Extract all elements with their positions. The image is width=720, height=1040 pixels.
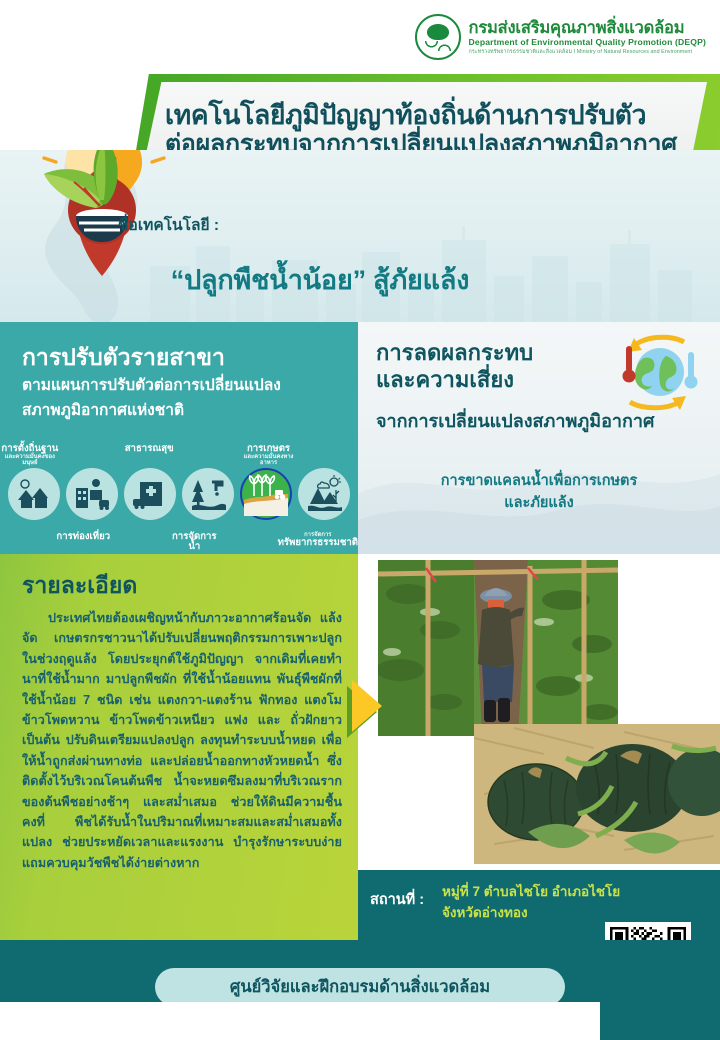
photo-zone bbox=[358, 554, 720, 870]
org-name-thai: กรมส่งเสริมคุณภาพสิ่งแวดล้อม bbox=[469, 19, 706, 37]
mitigation-heading-line2: และความเสี่ยง bbox=[376, 367, 533, 394]
sector-panel-subheading-2: สภาพภูมิอากาศแห่งชาติ bbox=[22, 401, 342, 422]
poster-title-line1: เทคโนโลยีภูมิปัญญาท้องถิ่นด้านการปรับตัว bbox=[165, 101, 707, 131]
details-panel: รายละเอียด ประเทศไทยต้องเผชิญหน้ากับภาวะ… bbox=[0, 554, 358, 940]
sector-label-natres-sub: การจัดการ bbox=[278, 532, 358, 538]
sector-label-settlement-sub: และความมั่นคงของมนุษย์ bbox=[0, 454, 60, 466]
deqp-logo: กรมส่งเสริมคุณภาพสิ่งแวดล้อม Department … bbox=[415, 14, 706, 60]
location-value: หมู่ที่ 7 ตำบลไชโย อำเภอไชโย จังหวัดอ่าง… bbox=[442, 882, 692, 924]
mitigation-panel: การลดผลกระทบ และความเสี่ยง จากการเปลี่ยน… bbox=[358, 322, 720, 554]
technology-name-value: “ปลูกพืชน้ำน้อย” สู้ภัยแล้ง bbox=[0, 258, 640, 301]
triangle-right-arrow-icon bbox=[352, 680, 382, 732]
org-ministry-line: กระทรวงทรัพยากรธรรมชาติและสิ่งแวดล้อม I … bbox=[469, 49, 706, 55]
location-label: สถานที่ : bbox=[370, 888, 424, 911]
settlement-houses-icon[interactable] bbox=[8, 468, 60, 520]
sector-label-natres-main: ทรัพยากรธรรมชาติ bbox=[278, 538, 358, 548]
pumpkins-on-straw-photo bbox=[474, 724, 720, 864]
natural-resources-mountain-icon[interactable] bbox=[298, 468, 350, 520]
sector-label-settlement: การตั้งถิ่นฐาน และความมั่นคงของมนุษย์ bbox=[0, 444, 60, 466]
technology-name-label: ชื่อเทคโนโลยี : bbox=[118, 212, 219, 237]
sector-label-health: สาธารณสุข bbox=[119, 444, 179, 466]
mitigation-heading: การลดผลกระทบ และความเสี่ยง bbox=[376, 340, 533, 394]
public-health-hospital-icon[interactable] bbox=[124, 468, 176, 520]
sector-panel-heading: การปรับตัวรายสาขา bbox=[22, 344, 342, 372]
sector-panel-subheading-1: ตามแผนการปรับตัวต่อการเปลี่ยนแปลง bbox=[22, 376, 342, 397]
sector-label-agriculture-sub: และความมั่นคงทางอาหาร bbox=[239, 454, 299, 466]
page-header: กรมส่งเสริมคุณภาพสิ่งแวดล้อม Department … bbox=[0, 0, 720, 78]
mitigation-body: การขาดแคลนน้ำเพื่อการเกษตร และภัยแล้ง bbox=[358, 470, 720, 515]
mitigation-body-line1: การขาดแคลนน้ำเพื่อการเกษตร bbox=[358, 470, 720, 492]
sector-icons-row bbox=[4, 468, 354, 520]
sector-label-health-main: สาธารณสุข bbox=[119, 444, 179, 454]
water-management-faucet-icon[interactable] bbox=[182, 468, 234, 520]
hero-section: ชื่อเทคโนโลยี : “ปลูกพืชน้ำน้อย” สู้ภัยแ… bbox=[0, 150, 720, 322]
sector-label-water-main: การจัดการน้ำ bbox=[167, 532, 223, 552]
sector-label-natres: การจัดการ ทรัพยากรธรรมชาติ bbox=[278, 532, 358, 552]
footer-organization-pill: ศูนย์วิจัยและฝึกอบรมด้านสิ่งแวดล้อม bbox=[155, 968, 565, 1006]
location-line1: หมู่ที่ 7 ตำบลไชโย อำเภอไชโย bbox=[442, 882, 692, 903]
details-body-text: ประเทศไทยต้องเผชิญหน้ากับภาวะอากาศร้อนจั… bbox=[22, 608, 342, 873]
cold-thermometer bbox=[685, 352, 698, 389]
agriculture-field-icon[interactable] bbox=[240, 468, 292, 520]
farmer-in-trellis-field-photo bbox=[378, 560, 618, 736]
poster-root: กรมส่งเสริมคุณภาพสิ่งแวดล้อม Department … bbox=[0, 0, 720, 1040]
sector-label-agriculture: การเกษตร และความมั่นคงทางอาหาร bbox=[239, 444, 299, 466]
deqp-logo-text: กรมส่งเสริมคุณภาพสิ่งแวดล้อม Department … bbox=[469, 19, 706, 54]
hot-thermometer bbox=[623, 346, 636, 383]
sector-bottom-labels: การท่องเที่ยว การจัดการน้ำ การจัดการ ทรั… bbox=[0, 532, 358, 552]
mitigation-body-line2: และภัยแล้ง bbox=[358, 492, 720, 514]
sector-top-labels: การตั้งถิ่นฐาน และความมั่นคงของมนุษย์ สา… bbox=[0, 444, 358, 466]
footer-white-strip bbox=[0, 1002, 600, 1040]
sector-icon-strip: การตั้งถิ่นฐาน และความมั่นคงของมนุษย์ สา… bbox=[0, 440, 358, 554]
sector-label-tourism-main: การท่องเที่ยว bbox=[56, 532, 112, 542]
deqp-tree-water-seal-icon bbox=[415, 14, 461, 60]
sector-label-water: การจัดการน้ำ bbox=[167, 532, 223, 552]
mitigation-heading-line1: การลดผลกระทบ bbox=[376, 340, 533, 367]
org-name-english: Department of Environmental Quality Prom… bbox=[469, 38, 706, 48]
sector-label-tourism: การท่องเที่ยว bbox=[56, 532, 112, 552]
sector-label-settlement-main: การตั้งถิ่นฐาน bbox=[0, 444, 60, 454]
sector-label-agriculture-main: การเกษตร bbox=[239, 444, 299, 454]
footer-organization-text: ศูนย์วิจัยและฝึกอบรมด้านสิ่งแวดล้อม bbox=[230, 974, 490, 1000]
details-heading: รายละเอียด bbox=[22, 568, 342, 604]
location-line2: จังหวัดอ่างทอง bbox=[442, 903, 692, 924]
globe-thermometer-icon bbox=[608, 330, 704, 416]
tourism-city-icon[interactable] bbox=[66, 468, 118, 520]
